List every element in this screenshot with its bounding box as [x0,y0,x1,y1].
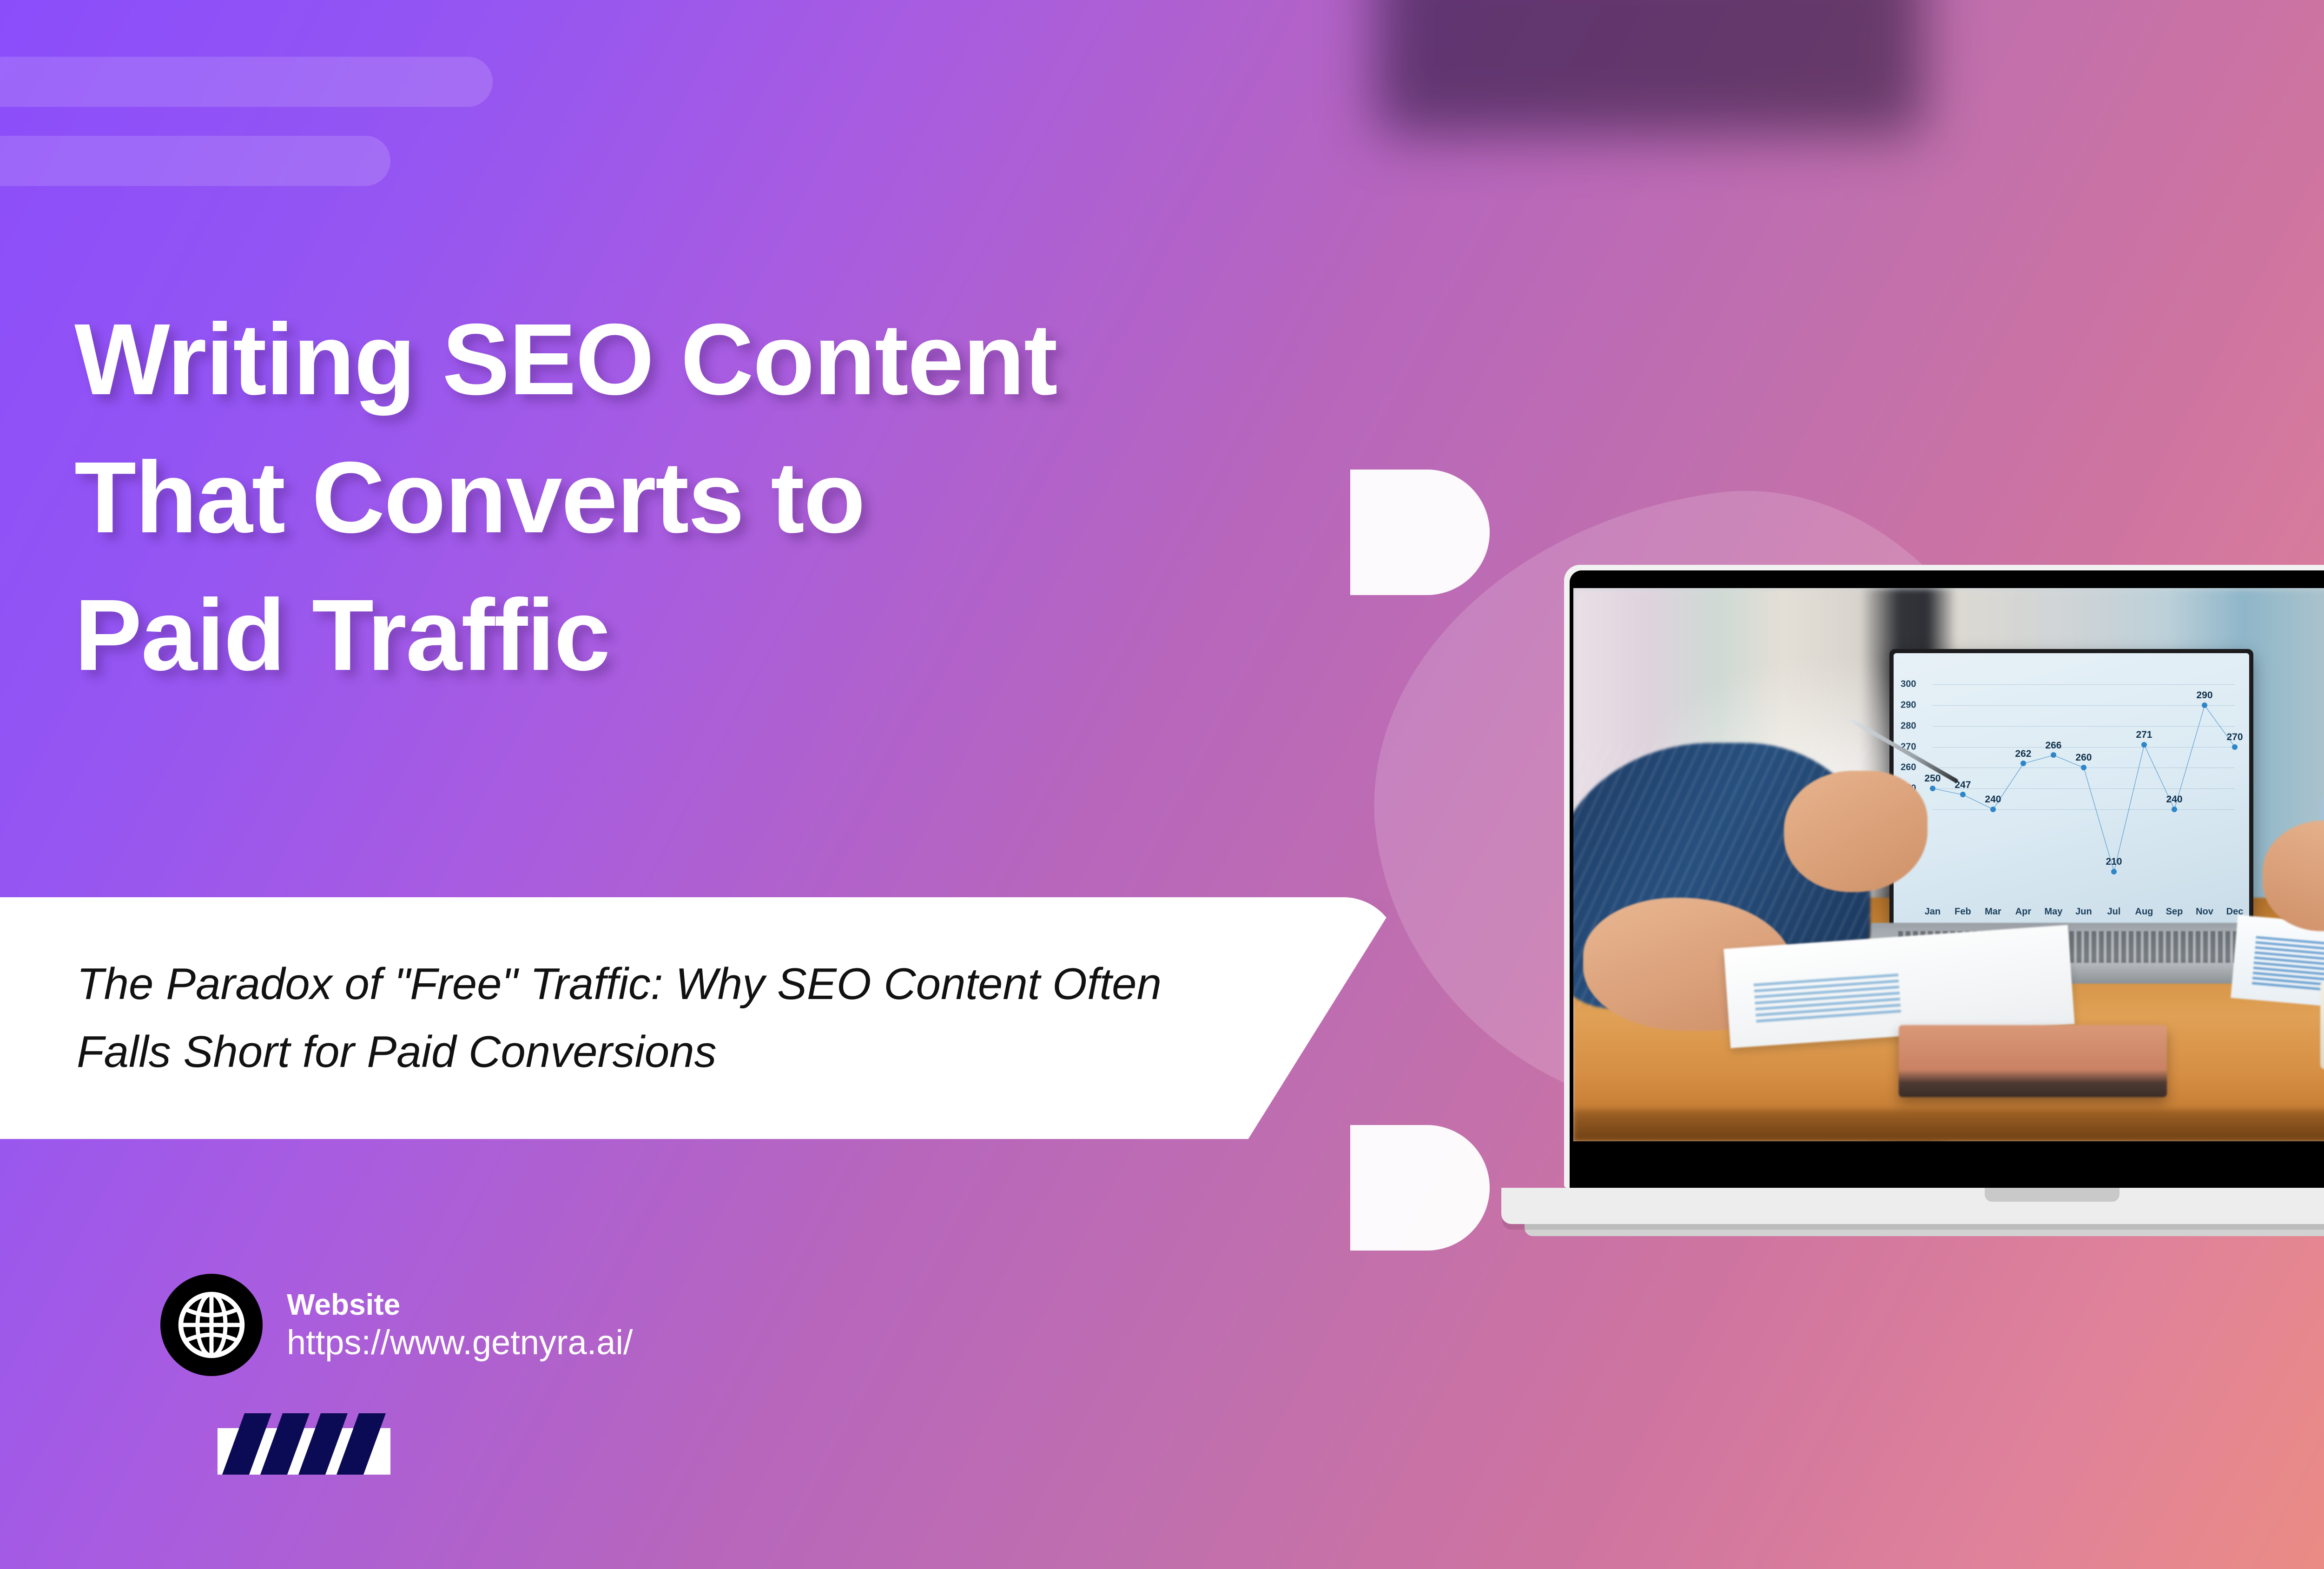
website-row[interactable]: Website https://www.getnyra.ai/ [160,1274,633,1376]
screen-photo: 240250260270280290300250Jan247Feb240Mar2… [1573,588,2324,1141]
decorative-bar-top [0,57,493,107]
laptop-lid: 240250260270280290300250Jan247Feb240Mar2… [1564,565,2324,1188]
laptop-foot [1525,1224,2324,1236]
chart-point-label: 250 [1924,773,1941,784]
chart-data-point [2141,742,2147,748]
chart-point-label: 240 [2166,794,2182,805]
headline-line-1: Writing SEO Content [74,291,1701,429]
headline-line-2: That Converts to [74,429,1701,567]
photo-inner-screen: 240250260270280290300250Jan247Feb240Mar2… [1894,653,2249,926]
chart-x-tick-label: Apr [2015,907,2031,917]
photo-hand-pointing [1784,771,1928,893]
chart-x-tick-label: Jul [2107,907,2121,917]
chart-x-tick-label: Feb [1954,907,1971,917]
headline-line-3: Paid Traffic [74,567,1701,704]
website-labels: Website https://www.getnyra.ai/ [287,1287,633,1363]
laptop-bezel: 240250260270280290300250Jan247Feb240Mar2… [1570,570,2324,1188]
chart-point-label: 270 [2226,732,2243,743]
photo-inner-laptop: 240250260270280290300250Jan247Feb240Mar2… [1889,649,2253,926]
laptop-screen: 240250260270280290300250Jan247Feb240Mar2… [1573,588,2324,1141]
chart-data-point [2202,702,2207,708]
chart-series [1894,653,2249,926]
chart-x-tick-label: Sep [2166,907,2183,917]
chart-point-label: 262 [2015,748,2031,760]
chart-data-point [2232,744,2238,750]
page-title: Writing SEO Content That Converts to Pai… [74,291,1701,704]
globe-icon [160,1274,263,1376]
chart-x-tick-label: Aug [2135,907,2153,917]
chart-point-label: 290 [2196,690,2212,701]
decorative-shadow-band [1376,0,1924,135]
photo-notebook [1899,1025,2167,1097]
chart-data-point [2172,807,2177,812]
chart-data-point [1960,792,1966,797]
chart-data-point [1990,807,1996,812]
chart-x-tick-label: Mar [1985,907,2001,917]
chart-point-label: 240 [1985,794,2001,805]
website-url[interactable]: https://www.getnyra.ai/ [287,1322,633,1363]
subtitle-card: The Paradox of "Free" Traffic: Why SEO C… [0,897,1399,1139]
chart-point-label: 260 [2075,752,2092,763]
chart-x-tick-label: Jan [1925,907,1941,917]
chart-point-label: 271 [2136,729,2152,741]
chart-point-label: 210 [2106,856,2122,867]
chart-data-point [2020,761,2026,766]
chart-point-label: 266 [2045,740,2061,751]
presentation-slide: NYRA AI Presenting Writing SEO Content T… [0,0,2324,1569]
chart-data-point [2081,765,2086,770]
subtitle-text: The Paradox of "Free" Traffic: Why SEO C… [77,950,1267,1086]
laptop-mockup: 240250260270280290300250Jan247Feb240Mar2… [1501,565,2324,1236]
laptop-base [1501,1188,2324,1224]
chart-x-tick-label: Jun [2075,907,2092,917]
photo-desk-edge [1573,1110,2324,1141]
chart-x-tick-label: May [2045,907,2063,917]
chart-data-point [1930,786,1935,791]
chart-x-tick-label: Nov [2196,907,2213,917]
photo-calculator [2320,981,2324,1069]
chart-data-point [2051,752,2056,758]
photo-line-chart: 240250260270280290300250Jan247Feb240Mar2… [1894,653,2249,926]
website-label: Website [287,1287,633,1323]
chart-data-point [2111,869,2117,874]
decorative-notch-bottom [1350,1125,1490,1251]
logo-mark [218,1428,390,1475]
decorative-bar-second [0,136,390,186]
